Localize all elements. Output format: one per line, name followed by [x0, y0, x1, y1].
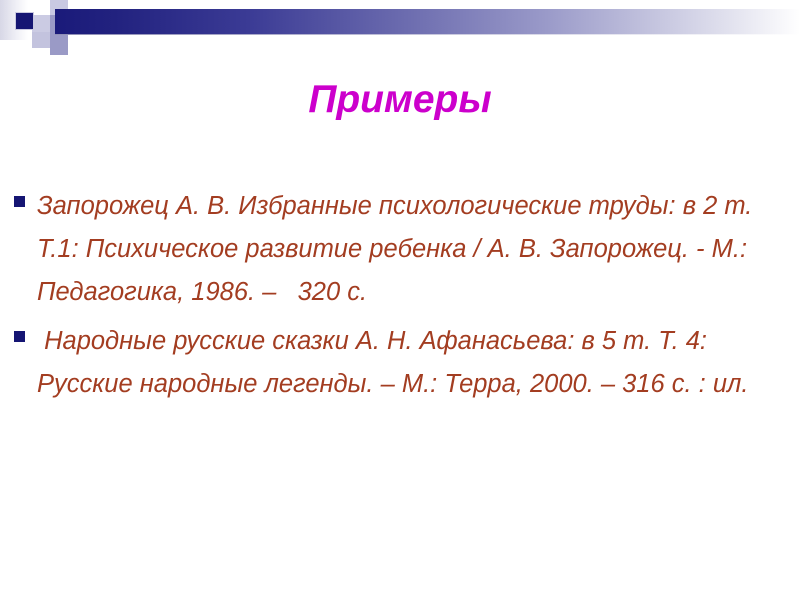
- deco-square-lavender-low: [50, 32, 68, 55]
- header-band-underline: [55, 34, 800, 35]
- square-bullet-icon: [14, 331, 25, 342]
- deco-square-light-low: [32, 32, 50, 48]
- slide-canvas: Примеры Запорожец А. В. Избранные психол…: [0, 0, 800, 600]
- header-gradient-band: [55, 9, 800, 34]
- list-item: Народные русские сказки А. Н. Афанасьева…: [10, 320, 798, 406]
- square-bullet-icon: [14, 196, 25, 207]
- list-item-text: Запорожец А. В. Избранные психологически…: [37, 185, 798, 314]
- deco-square-white-cap: [68, 0, 86, 9]
- bullet-list: Запорожец А. В. Избранные психологически…: [10, 185, 798, 412]
- deco-square-navy: [15, 12, 34, 30]
- list-item: Запорожец А. В. Избранные психологически…: [10, 185, 798, 314]
- list-item-text: Народные русские сказки А. Н. Афанасьева…: [37, 320, 798, 406]
- deco-square-light-mid: [32, 15, 50, 32]
- page-title: Примеры: [0, 78, 800, 122]
